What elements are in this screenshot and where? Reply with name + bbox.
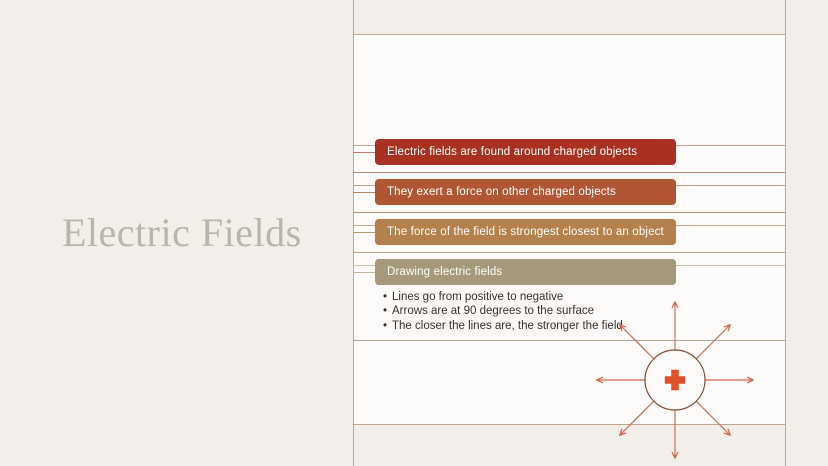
positive-point-charge-field-diagram [585, 293, 765, 466]
stub-bar-2 [353, 192, 376, 193]
statement-bar-1[interactable]: Electric fields are found around charged… [375, 139, 676, 165]
panel-right-border [785, 0, 786, 466]
divider-bar2-bottom [353, 212, 785, 213]
divider-bar1-bottom [353, 172, 785, 173]
slide: Electric Fields Electric fields are foun… [0, 0, 828, 466]
panel-top-strip [353, 0, 785, 34]
statement-bar-2[interactable]: They exert a force on other charged obje… [375, 179, 676, 205]
divider-bar3-bottom [353, 252, 785, 253]
statement-bar-4[interactable]: Drawing electric fields [375, 259, 676, 285]
field-arrow-ne [696, 325, 730, 359]
list-item-label: Lines go from positive to negative [392, 291, 563, 303]
statement-bar-1-label: Electric fields are found around charged… [387, 146, 637, 158]
statement-bar-3[interactable]: The force of the field is strongest clos… [375, 219, 676, 245]
panel-left-border [353, 0, 354, 466]
field-arrow-se [696, 401, 730, 435]
statement-bar-3-label: The force of the field is strongest clos… [387, 226, 664, 238]
field-arrow-sw [620, 401, 654, 435]
bullet-dot-icon: • [383, 290, 392, 304]
statement-bar-2-label: They exert a force on other charged obje… [387, 186, 616, 198]
divider-top [353, 34, 785, 35]
field-arrow-nw [620, 325, 654, 359]
stub-bar-1 [353, 152, 376, 153]
stub-bar-4 [353, 272, 376, 273]
stub-bar-3 [353, 232, 376, 233]
page-title: Electric Fields [62, 208, 342, 258]
list-item-label: Arrows are at 90 degrees to the surface [392, 305, 594, 317]
bullet-dot-icon: • [383, 319, 392, 333]
statement-bar-4-label: Drawing electric fields [387, 266, 502, 278]
bullet-dot-icon: • [383, 304, 392, 318]
